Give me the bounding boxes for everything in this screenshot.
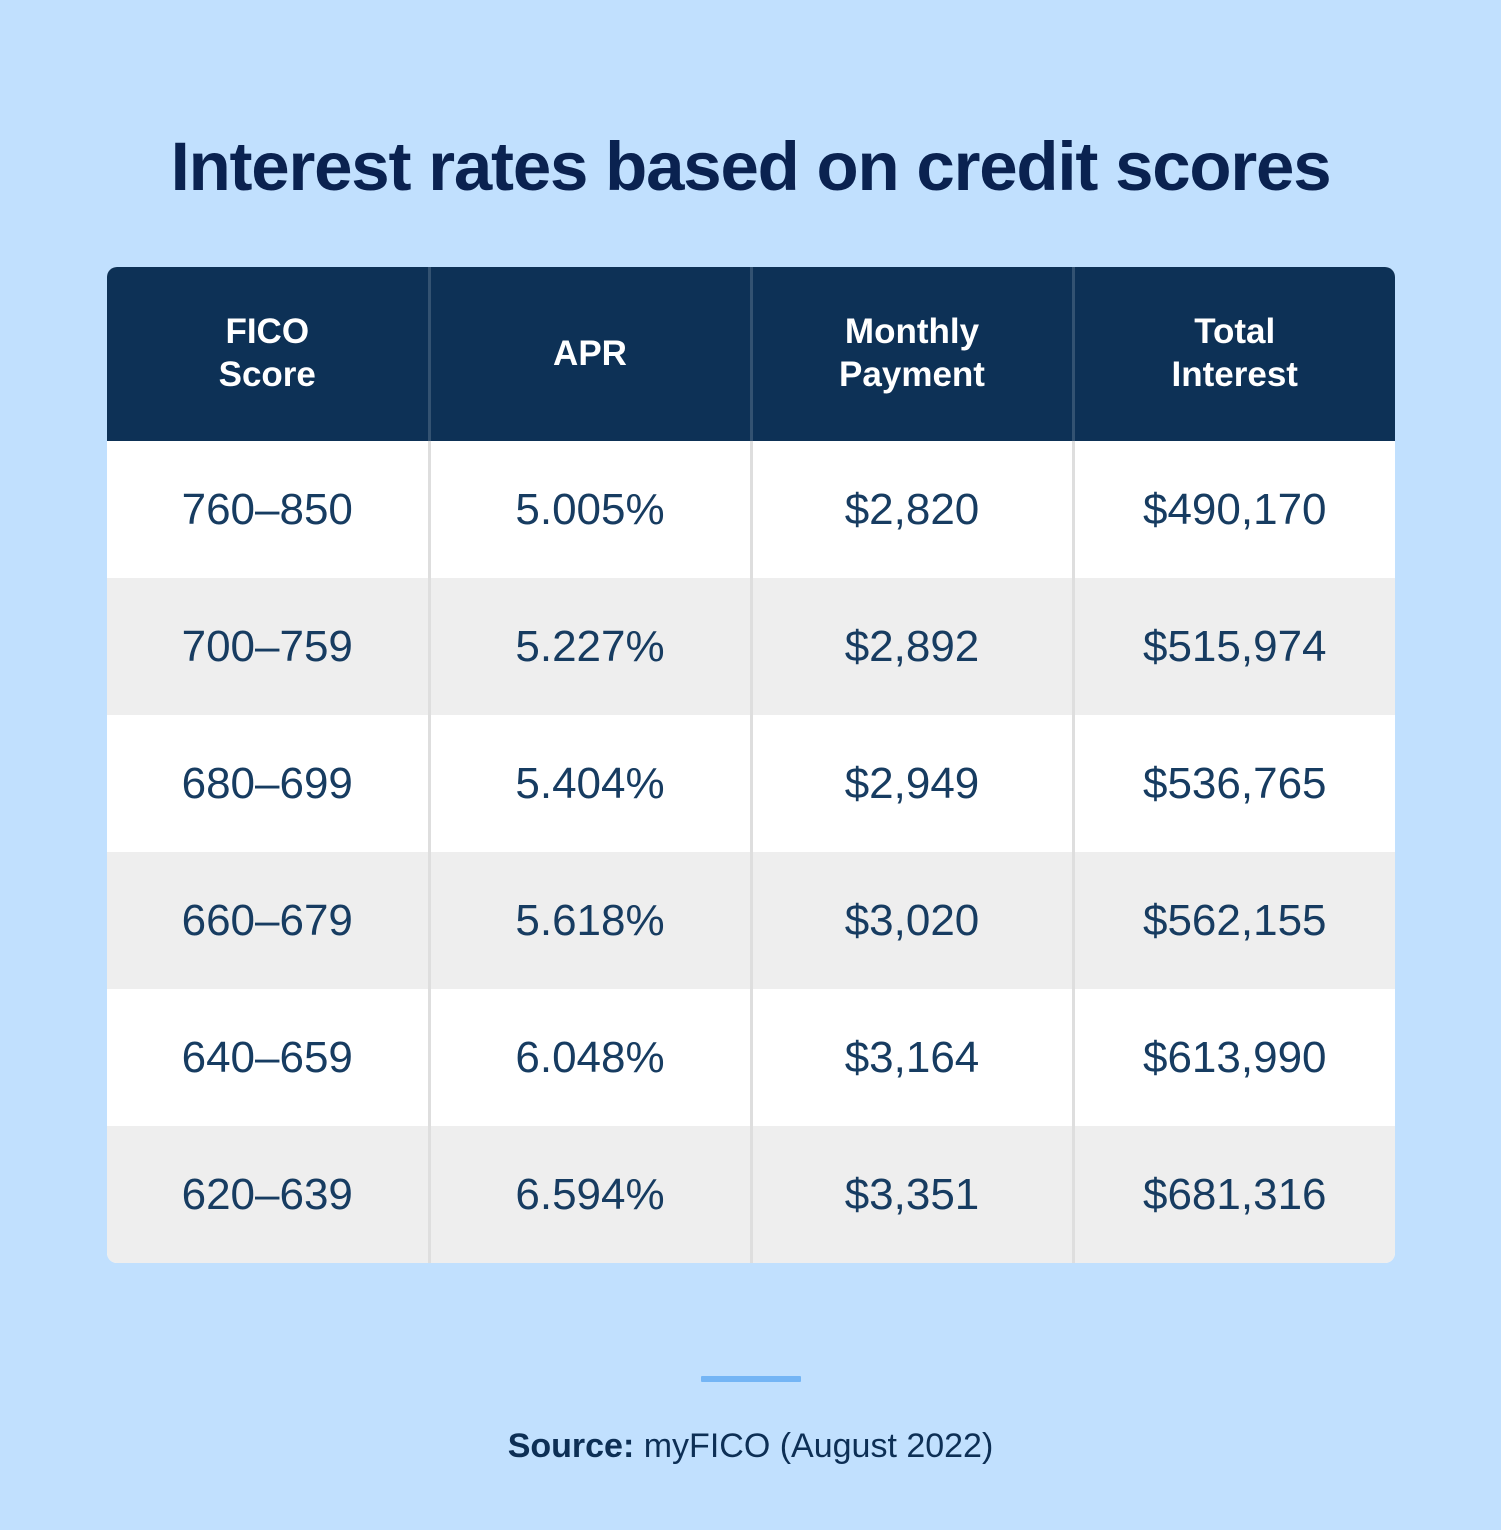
cell-apr: 5.227%: [429, 578, 751, 715]
table-header-row: FICO Score APR Monthly Payment Total Int…: [107, 267, 1395, 441]
cell-monthly-payment: $2,820: [751, 441, 1073, 578]
cell-fico-score: 680–699: [107, 715, 429, 852]
column-header-monthly-payment-line2: Payment: [761, 354, 1064, 397]
column-header-apr: APR: [429, 267, 751, 441]
cell-total-interest: $562,155: [1073, 852, 1395, 989]
table-header: FICO Score APR Monthly Payment Total Int…: [107, 267, 1395, 441]
footer: Source: myFICO (August 2022): [0, 1376, 1501, 1467]
cell-fico-score: 640–659: [107, 989, 429, 1126]
cell-monthly-payment: $3,020: [751, 852, 1073, 989]
table-row: 640–659 6.048% $3,164 $613,990: [107, 989, 1395, 1126]
cell-monthly-payment: $2,949: [751, 715, 1073, 852]
table-row: 760–850 5.005% $2,820 $490,170: [107, 441, 1395, 578]
cell-apr: 6.594%: [429, 1126, 751, 1263]
table-body: 760–850 5.005% $2,820 $490,170 700–759 5…: [107, 441, 1395, 1263]
cell-monthly-payment: $3,164: [751, 989, 1073, 1126]
cell-apr: 6.048%: [429, 989, 751, 1126]
cell-total-interest: $536,765: [1073, 715, 1395, 852]
cell-apr: 5.005%: [429, 441, 751, 578]
infographic-canvas: Interest rates based on credit scores FI…: [0, 0, 1501, 1530]
cell-total-interest: $681,316: [1073, 1126, 1395, 1263]
cell-fico-score: 760–850: [107, 441, 429, 578]
column-header-monthly-payment-line1: Monthly: [761, 311, 1064, 354]
interest-rates-table: FICO Score APR Monthly Payment Total Int…: [107, 267, 1395, 1263]
column-header-total-interest: Total Interest: [1073, 267, 1395, 441]
cell-total-interest: $515,974: [1073, 578, 1395, 715]
cell-fico-score: 660–679: [107, 852, 429, 989]
column-header-fico-score-line1: FICO: [115, 311, 420, 354]
column-header-fico-score: FICO Score: [107, 267, 429, 441]
cell-apr: 5.404%: [429, 715, 751, 852]
cell-total-interest: $490,170: [1073, 441, 1395, 578]
column-header-apr-line1: APR: [439, 333, 742, 376]
cell-fico-score: 700–759: [107, 578, 429, 715]
source-value: myFICO (August 2022): [634, 1427, 993, 1465]
table-row: 680–699 5.404% $2,949 $536,765: [107, 715, 1395, 852]
table-row: 620–639 6.594% $3,351 $681,316: [107, 1126, 1395, 1263]
column-header-total-interest-line2: Interest: [1083, 354, 1388, 397]
cell-monthly-payment: $2,892: [751, 578, 1073, 715]
source-label: Source:: [508, 1427, 635, 1465]
cell-total-interest: $613,990: [1073, 989, 1395, 1126]
source-note: Source: myFICO (August 2022): [0, 1426, 1501, 1467]
cell-apr: 5.618%: [429, 852, 751, 989]
page-title: Interest rates based on credit scores: [0, 128, 1501, 205]
table-row: 700–759 5.227% $2,892 $515,974: [107, 578, 1395, 715]
column-header-fico-score-line2: Score: [115, 354, 420, 397]
column-header-monthly-payment: Monthly Payment: [751, 267, 1073, 441]
footer-divider-rule: [701, 1376, 801, 1382]
cell-monthly-payment: $3,351: [751, 1126, 1073, 1263]
table-row: 660–679 5.618% $3,020 $562,155: [107, 852, 1395, 989]
cell-fico-score: 620–639: [107, 1126, 429, 1263]
column-header-total-interest-line1: Total: [1083, 311, 1388, 354]
interest-rates-table-card: FICO Score APR Monthly Payment Total Int…: [107, 267, 1395, 1263]
